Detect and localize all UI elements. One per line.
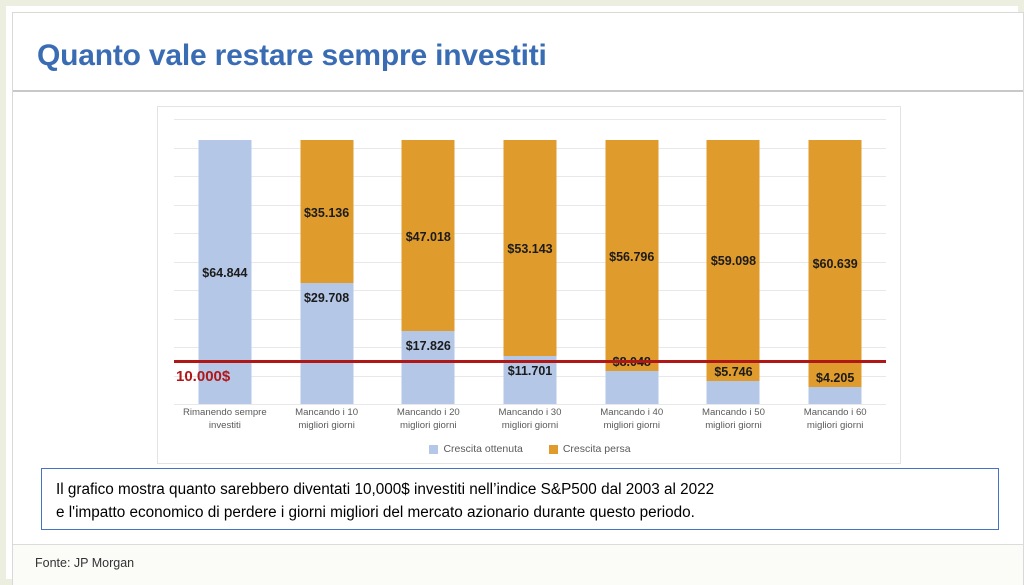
bar-label-lost: $60.639 [813,257,858,271]
stacked-bar[interactable] [809,140,862,404]
chart-x-axis: Rimanendo sempreinvestitiMancando i 10mi… [174,406,886,446]
x-axis-label-line: Mancando i 10 [278,406,376,419]
legend-swatch-icon [429,445,438,454]
bar-label-gained: $17.826 [406,339,451,353]
legend-label: Crescita persa [563,443,631,455]
bar-label-lost: $47.018 [406,230,451,244]
x-axis-label-line: migliori giorni [685,419,783,432]
x-axis-label: Mancando i 60migliori giorni [784,406,886,446]
x-axis-label-line: Mancando i 20 [379,406,477,419]
bar-label-gained: $11.701 [508,364,553,378]
x-axis-label: Mancando i 30migliori giorni [479,406,581,446]
x-axis-label-line: Mancando i 40 [583,406,681,419]
chart-plot-area: $64.844$35.136$29.708$47.018$17.826$53.1… [174,119,886,404]
caption-box: Il grafico mostra quanto sarebbero diven… [41,468,999,530]
x-axis-label-line: Mancando i 30 [481,406,579,419]
x-axis-label: Mancando i 40migliori giorni [581,406,683,446]
x-axis-label-line: migliori giorni [786,419,884,432]
bar-label-lost: $53.143 [507,242,552,256]
bar-label-gained: $4.205 [816,371,854,385]
bar-label-lost: $59.098 [711,254,756,268]
x-axis-label: Rimanendo sempreinvestiti [174,406,276,446]
footer-bar: Fonte: JP Morgan [13,544,1023,585]
title-bar: Quanto vale restare sempre investiti [13,13,1023,92]
bar-label-gained: $29.708 [304,291,349,305]
bar-label-lost: $35.136 [304,206,349,220]
reference-line [174,360,886,363]
page-title: Quanto vale restare sempre investiti [37,39,547,73]
reference-line-label: 10.000$ [176,368,230,385]
x-axis-label-line: migliori giorni [278,419,376,432]
x-axis-label-line: Mancando i 60 [786,406,884,419]
stacked-bar[interactable] [402,140,455,404]
bar-label-gained: $64.844 [202,266,247,280]
bar-label-gained: $5.746 [714,365,752,379]
source-label: Fonte: JP Morgan [35,556,134,570]
legend-label: Crescita ottenuta [443,443,522,455]
x-axis-label-line: Mancando i 50 [685,406,783,419]
x-axis-label-line: investiti [176,419,274,432]
gridline [174,404,886,405]
x-axis-label-line: migliori giorni [379,419,477,432]
x-axis-label: Mancando i 50migliori giorni [683,406,785,446]
bar-segment-gained[interactable] [605,371,658,404]
bar-label-lost: $56.796 [609,250,654,264]
legend-item[interactable]: Crescita persa [549,443,631,455]
x-axis-label: Mancando i 20migliori giorni [377,406,479,446]
x-axis-label-line: migliori giorni [583,419,681,432]
slide-frame: Quanto vale restare sempre investiti $64… [0,0,1024,585]
legend-item[interactable]: Crescita ottenuta [429,443,522,455]
slide-inner: Quanto vale restare sempre investiti $64… [12,12,1024,585]
x-axis-label-line: Rimanendo sempre [176,406,274,419]
bar-segment-gained[interactable] [809,387,862,404]
x-axis-label: Mancando i 10migliori giorni [276,406,378,446]
chart-legend: Crescita ottenutaCrescita persa [158,443,902,455]
legend-swatch-icon [549,445,558,454]
stacked-bar[interactable] [300,140,353,404]
chart-panel: $64.844$35.136$29.708$47.018$17.826$53.1… [157,106,901,464]
x-axis-label-line: migliori giorni [481,419,579,432]
caption-line-1: Il grafico mostra quanto sarebbero diven… [56,478,984,501]
caption-line-2: e l'impatto economico di perdere i giorn… [56,501,984,524]
bar-segment-gained[interactable] [707,381,760,404]
